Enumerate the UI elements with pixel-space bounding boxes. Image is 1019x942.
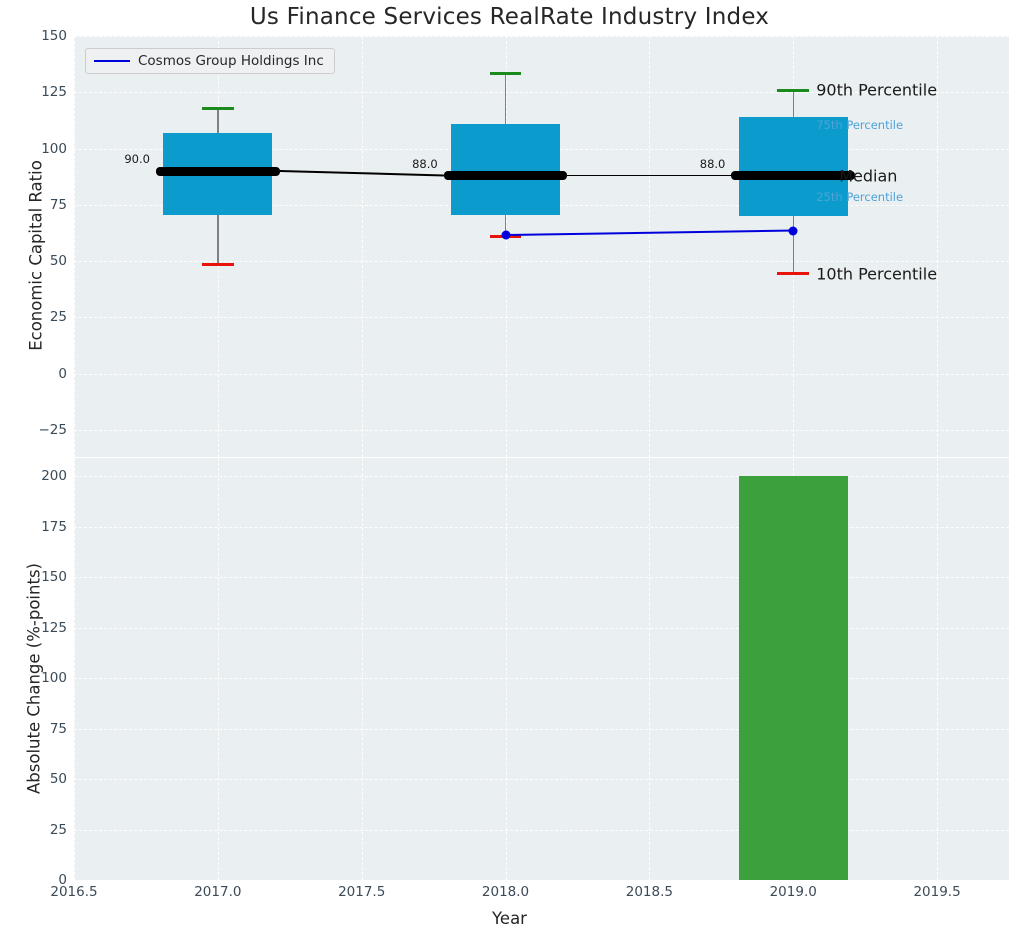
gridline-horizontal bbox=[74, 830, 1009, 831]
gridline-horizontal bbox=[74, 577, 1009, 578]
box-median-segment bbox=[156, 167, 280, 176]
box-median-segment bbox=[444, 171, 568, 180]
y-axis-label-bottom: Absolute Change (%-points) bbox=[25, 509, 44, 849]
y-tick-label-bottom: 25 bbox=[50, 822, 67, 838]
box-cap-p90 bbox=[777, 89, 809, 92]
gridline-vertical bbox=[362, 458, 363, 880]
gridline-vertical bbox=[649, 458, 650, 880]
y-tick-label-bottom: 150 bbox=[41, 569, 67, 585]
gridline-horizontal bbox=[74, 374, 1009, 375]
y-tick-label-top: 25 bbox=[50, 309, 67, 325]
y-tick-label-top: 75 bbox=[50, 197, 67, 213]
x-tick-label: 2017.5 bbox=[338, 884, 385, 900]
y-tick-label-bottom: 50 bbox=[50, 771, 67, 787]
y-tick-label-top: 50 bbox=[50, 253, 67, 269]
legend-label-cosmos: Cosmos Group Holdings Inc bbox=[138, 53, 324, 69]
gridline-horizontal bbox=[74, 317, 1009, 318]
annotation-75th-percentile: 75th Percentile bbox=[816, 118, 903, 132]
x-tick-label: 2018.0 bbox=[482, 884, 529, 900]
y-axis-label-top: Economic Capital Ratio bbox=[27, 96, 46, 416]
box-cap-p90 bbox=[490, 72, 522, 75]
y-tick-label-top: −25 bbox=[39, 422, 68, 438]
x-axis-label: Year bbox=[0, 909, 1019, 928]
gridline-vertical bbox=[74, 36, 75, 457]
gridline-horizontal bbox=[74, 628, 1009, 629]
box-median-label: 88.0 bbox=[700, 157, 726, 171]
figure-canvas: Us Finance Services RealRate Industry In… bbox=[0, 0, 1019, 942]
y-tick-label-top: 0 bbox=[58, 366, 67, 382]
box-median-label: 88.0 bbox=[412, 157, 438, 171]
y-tick-label-top: 150 bbox=[41, 28, 67, 44]
box-cap-p90 bbox=[202, 107, 234, 110]
legend[interactable]: Cosmos Group Holdings Inc bbox=[85, 48, 335, 74]
chart-title: Us Finance Services RealRate Industry In… bbox=[0, 4, 1019, 30]
gridline-horizontal bbox=[74, 779, 1009, 780]
annotation-median: Median bbox=[839, 166, 897, 185]
gridline-vertical bbox=[937, 458, 938, 880]
median-connector-line bbox=[567, 175, 731, 177]
gridline-horizontal bbox=[74, 729, 1009, 730]
x-tick-label: 2019.5 bbox=[913, 884, 960, 900]
gridline-horizontal bbox=[74, 430, 1009, 431]
y-tick-label-bottom: 175 bbox=[41, 519, 67, 535]
x-tick-label: 2017.0 bbox=[194, 884, 241, 900]
gridline-vertical bbox=[362, 36, 363, 457]
gridline-horizontal bbox=[74, 678, 1009, 679]
x-tick-label: 2018.5 bbox=[626, 884, 673, 900]
series-point-cosmos[interactable] bbox=[501, 231, 510, 240]
gridline-vertical bbox=[506, 458, 507, 880]
annotation-90th-percentile: 90th Percentile bbox=[816, 81, 937, 100]
gridline-horizontal bbox=[74, 880, 1009, 881]
box-median-segment bbox=[731, 171, 855, 180]
annotation-10th-percentile: 10th Percentile bbox=[816, 264, 937, 283]
gridline-vertical bbox=[649, 36, 650, 457]
gridline-vertical bbox=[74, 458, 75, 880]
gridline-horizontal bbox=[74, 261, 1009, 262]
gridline-vertical bbox=[937, 36, 938, 457]
box-cap-p10 bbox=[202, 263, 234, 266]
box-interquartile-range bbox=[451, 124, 560, 215]
y-tick-label-bottom: 100 bbox=[41, 670, 67, 686]
series-point-cosmos[interactable] bbox=[789, 226, 798, 235]
gridline-vertical bbox=[218, 458, 219, 880]
x-tick-label: 2016.5 bbox=[50, 884, 97, 900]
gridline-horizontal bbox=[74, 36, 1009, 37]
box-median-label: 90.0 bbox=[124, 152, 150, 166]
box-cap-p10 bbox=[777, 272, 809, 275]
x-tick-label: 2019.0 bbox=[770, 884, 817, 900]
gridline-horizontal bbox=[74, 527, 1009, 528]
annotation-25th-percentile: 25th Percentile bbox=[816, 190, 903, 204]
gridline-horizontal bbox=[74, 476, 1009, 477]
y-tick-label-bottom: 75 bbox=[50, 721, 67, 737]
legend-swatch-cosmos bbox=[94, 60, 130, 62]
y-tick-label-bottom: 200 bbox=[41, 468, 67, 484]
y-tick-label-bottom: 125 bbox=[41, 620, 67, 636]
panel-absolute-change bbox=[74, 458, 1009, 880]
bar-absolute-change bbox=[739, 476, 848, 880]
